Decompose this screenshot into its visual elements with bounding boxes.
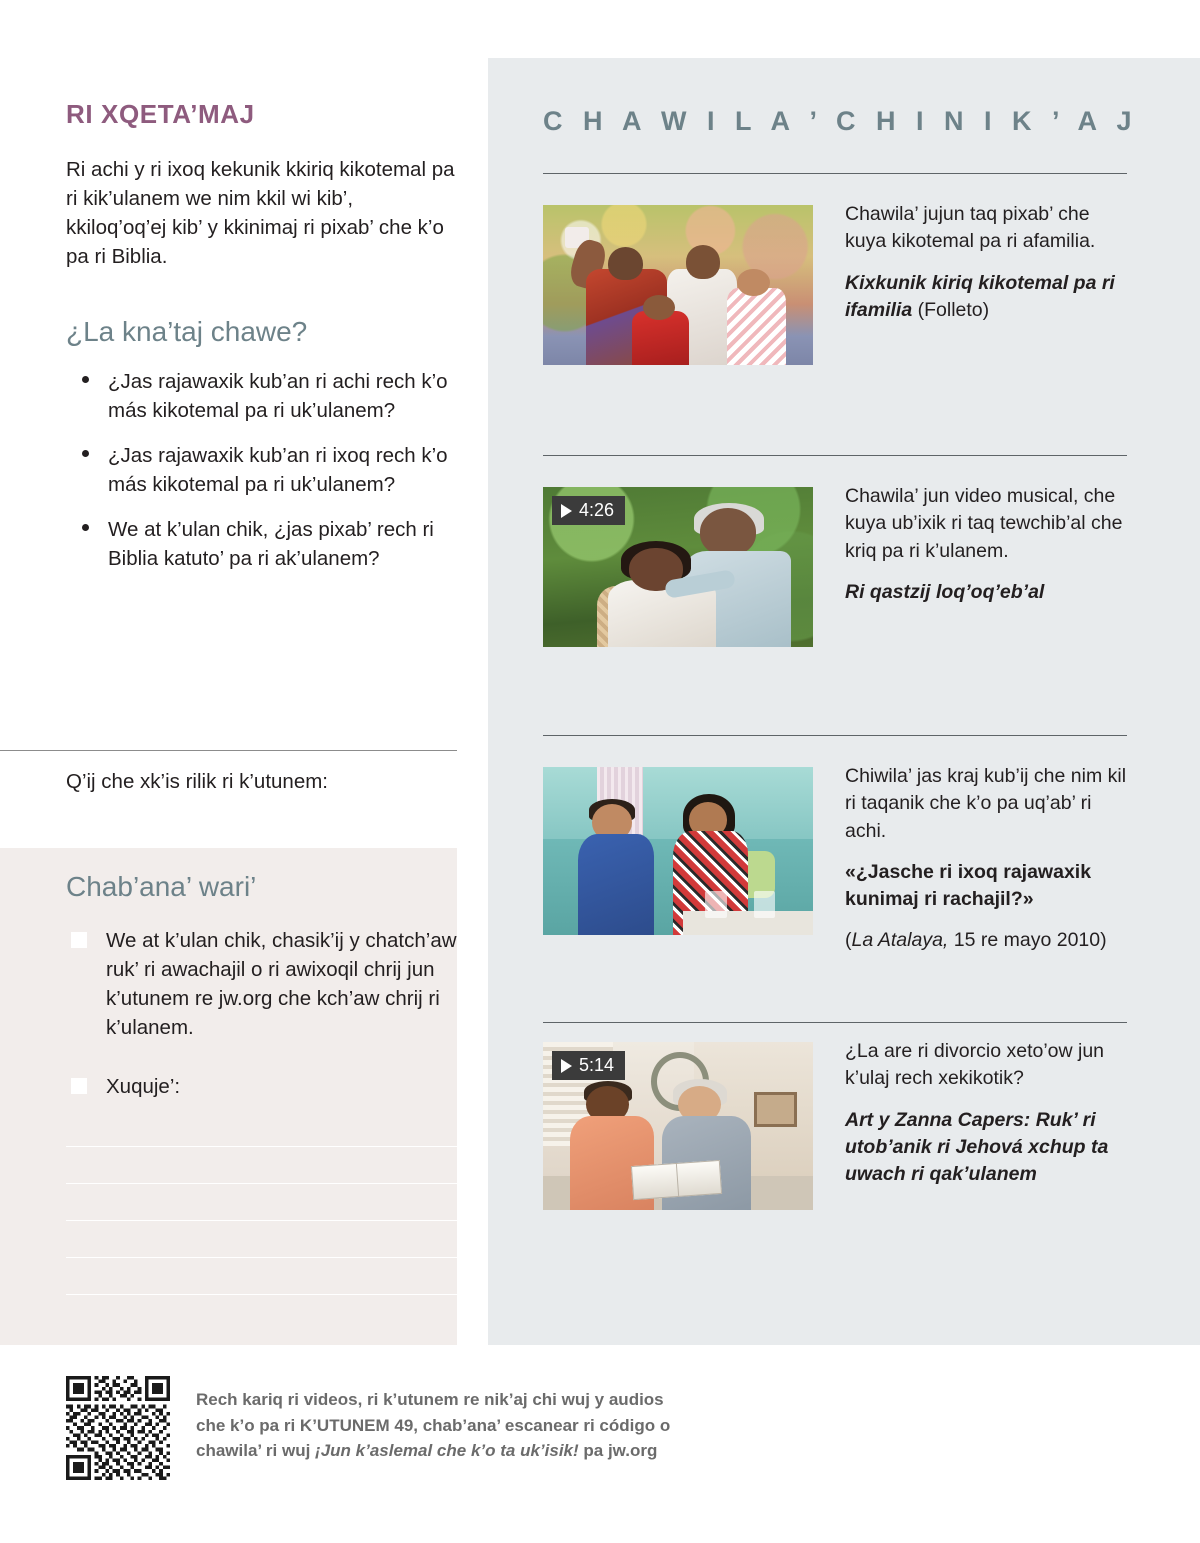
item-body: Chawila’ jun video musical, che kuya ub’… [845, 483, 1127, 565]
video-duration-badge: 5:14 [552, 1051, 625, 1080]
footer-publication-title: ¡Jun k’aslemal che k’o ta uk’isik! [315, 1441, 579, 1460]
list-item: ¿Jas rajawaxik kub’an ri achi rech k’o m… [108, 367, 458, 425]
questions-list: ¿Jas rajawaxik kub’an ri achi rech k’o m… [66, 367, 458, 574]
item-divider [543, 1022, 1127, 1023]
task-heading: Chab’ana’ wari’ [66, 870, 458, 904]
task-list: We at k’ulan chik, chasik’ij y chatch’aw… [66, 926, 458, 1102]
questions-subheading: ¿La kna’taj chawe? [66, 315, 458, 349]
writing-line[interactable] [66, 1257, 458, 1258]
writing-lines [66, 1146, 458, 1331]
writing-line[interactable] [66, 1183, 458, 1184]
task-text: Xuquje’: [106, 1075, 180, 1098]
video-duration: 4:26 [579, 500, 614, 521]
left-column: RI XQETA’MAJ Ri achi y ri ixoq kekunik k… [66, 100, 458, 589]
item-title: Kixkunik kiriq kikotemal pa ri ifamilia … [845, 270, 1127, 325]
left-divider [0, 750, 457, 751]
footer-line-3-pre: chawila’ ri wuj [196, 1441, 315, 1460]
item-divider [543, 455, 1127, 456]
photo-family-selfie [543, 205, 813, 365]
completion-date-label: Q’ij che xk’is rilik ri k’utunem: [66, 768, 458, 797]
photo-couple-sofa [543, 767, 813, 935]
bullet-icon [82, 376, 89, 383]
footer-line-1: Rech kariq ri videos, ri k’utunem re nik… [196, 1390, 664, 1409]
source-date: 15 re mayo 2010 [948, 929, 1100, 951]
item-title: Ri qastzij loq’oq’eb’al [845, 579, 1127, 606]
item-title-suffix: (Folleto) [918, 299, 990, 321]
list-item: We at k’ulan chik, ¿jas pixab’ rech ri B… [108, 515, 458, 573]
qr-code-icon [66, 1376, 170, 1480]
footer-note: Rech kariq ri videos, ri k’utunem re nik… [196, 1387, 716, 1464]
writing-line[interactable] [66, 1220, 458, 1221]
right-column-heading: C H A W I L A ’ C H I N I K ’ A J [543, 107, 1138, 137]
question-text: ¿Jas rajawaxik kub’an ri achi rech k’o m… [108, 370, 448, 422]
footer-line-3-post: pa jw.org [579, 1441, 658, 1460]
task-section: Chab’ana’ wari’ We at k’ulan chik, chasi… [66, 870, 458, 1131]
document-page: RI XQETA’MAJ Ri achi y ri ixoq kekunik k… [0, 0, 1200, 1543]
list-item[interactable]: We at k’ulan chik, chasik’ij y chatch’aw… [66, 926, 458, 1042]
item-title: Art y Zanna Capers: Ruk’ ri utob’anik ri… [845, 1107, 1127, 1189]
task-text: We at k’ulan chik, chasik’ij y chatch’aw… [106, 929, 457, 1039]
play-icon [561, 504, 572, 518]
bullet-icon [82, 524, 89, 531]
video-duration-badge: 4:26 [552, 496, 625, 525]
item-body: ¿La are ri divorcio xeto’ow jun k’ulaj r… [845, 1038, 1127, 1093]
item-divider [543, 173, 1127, 174]
thumbnail-family-selfie[interactable] [543, 205, 813, 365]
item-body: Chiwila’ jas kraj kub’ij che nim kil ri … [845, 763, 1127, 845]
source-publication: La Atalaya, [852, 929, 949, 951]
checkbox-icon[interactable] [71, 1078, 87, 1094]
item-copy: ¿La are ri divorcio xeto’ow jun k’ulaj r… [845, 1038, 1127, 1188]
play-icon [561, 1059, 572, 1073]
thumbnail-couple-sofa[interactable] [543, 767, 813, 935]
item-copy: Chawila’ jujun taq pixab’ che kuya kikot… [845, 201, 1127, 324]
list-item: ¿Jas rajawaxik kub’an ri ixoq rech k’o m… [108, 441, 458, 499]
video-duration: 5:14 [579, 1055, 614, 1076]
item-body: Chawila’ jujun taq pixab’ che kuya kikot… [845, 201, 1127, 256]
question-text: ¿Jas rajawaxik kub’an ri ixoq rech k’o m… [108, 444, 448, 496]
item-quote: «¿Jasche ri ixoq rajawaxik kunimaj ri ra… [845, 859, 1127, 914]
writing-line[interactable] [66, 1294, 458, 1295]
item-copy: Chiwila’ jas kraj kub’ij che nim kil ri … [845, 763, 1127, 955]
list-item[interactable]: Xuquje’: [66, 1072, 458, 1101]
section-kicker: RI XQETA’MAJ [66, 100, 458, 129]
intro-paragraph: Ri achi y ri ixoq kekunik kkiriq kikotem… [66, 155, 458, 271]
thumbnail-older-couple-outdoors[interactable]: 4:26 [543, 487, 813, 647]
qr-code[interactable] [66, 1376, 170, 1480]
footer-line-2: che k’o pa ri K’UTUNEM 49, chab’ana’ esc… [196, 1416, 670, 1435]
item-divider [543, 735, 1127, 736]
writing-line[interactable] [66, 1146, 458, 1147]
item-source: (La Atalaya, 15 re mayo 2010) [845, 927, 1127, 954]
question-text: We at k’ulan chik, ¿jas pixab’ rech ri B… [108, 518, 434, 570]
thumbnail-couple-reading[interactable]: 5:14 [543, 1042, 813, 1210]
item-copy: Chawila’ jun video musical, che kuya ub’… [845, 483, 1127, 606]
checkbox-icon[interactable] [71, 932, 87, 948]
bullet-icon [82, 450, 89, 457]
